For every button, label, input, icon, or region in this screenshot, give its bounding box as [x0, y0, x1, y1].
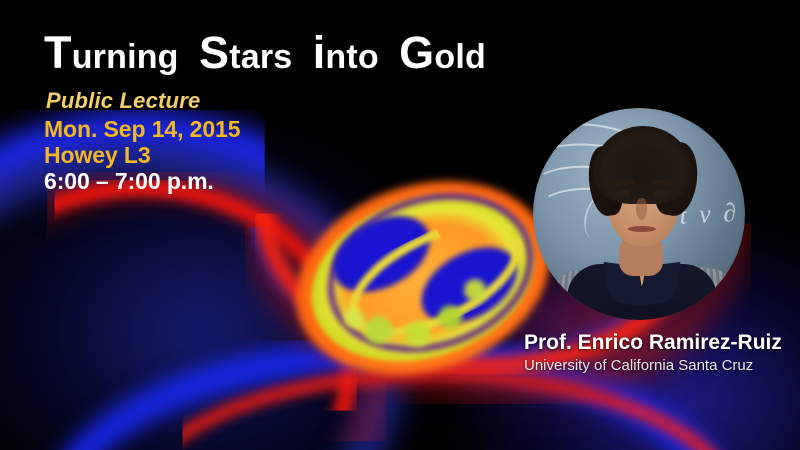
portrait-nose — [636, 198, 647, 220]
title-word: into — [308, 55, 383, 72]
title-word-initial: i — [313, 27, 326, 78]
event-type-label: Public Lecture — [46, 88, 200, 114]
title-word-initial: G — [399, 27, 434, 78]
title-word-initial: S — [199, 27, 229, 78]
event-date: Mon. Sep 14, 2015 — [44, 116, 240, 143]
portrait-mouth — [628, 226, 656, 232]
title-word: Turning — [44, 55, 183, 72]
title-word-initial: T — [44, 27, 72, 78]
title-word: Stars — [194, 55, 297, 72]
page-title: Turning Stars into Gold — [44, 30, 486, 75]
neutron-star-merger-simulation — [0, 150, 620, 450]
portrait-eye-right — [653, 190, 668, 197]
title-word-rest: nto — [325, 38, 378, 76]
speaker-name: Prof. Enrico Ramirez-Ruiz — [524, 331, 782, 355]
event-time: 6:00 – 7:00 p.m. — [44, 168, 214, 195]
title-word: Gold — [395, 55, 486, 72]
speaker-affiliation: University of California Santa Cruz — [524, 357, 753, 374]
event-venue: Howey L3 — [44, 142, 151, 169]
title-word-rest: tars — [229, 38, 292, 76]
portrait-eye-left — [616, 190, 631, 197]
title-word-rest: urning — [72, 38, 179, 76]
lecture-poster: − ∫ q̇ t ν ∂ Turning Stars into Gold Pub… — [0, 0, 800, 450]
speaker-portrait: − ∫ q̇ t ν ∂ — [533, 108, 745, 320]
title-word-rest: old — [434, 38, 486, 76]
